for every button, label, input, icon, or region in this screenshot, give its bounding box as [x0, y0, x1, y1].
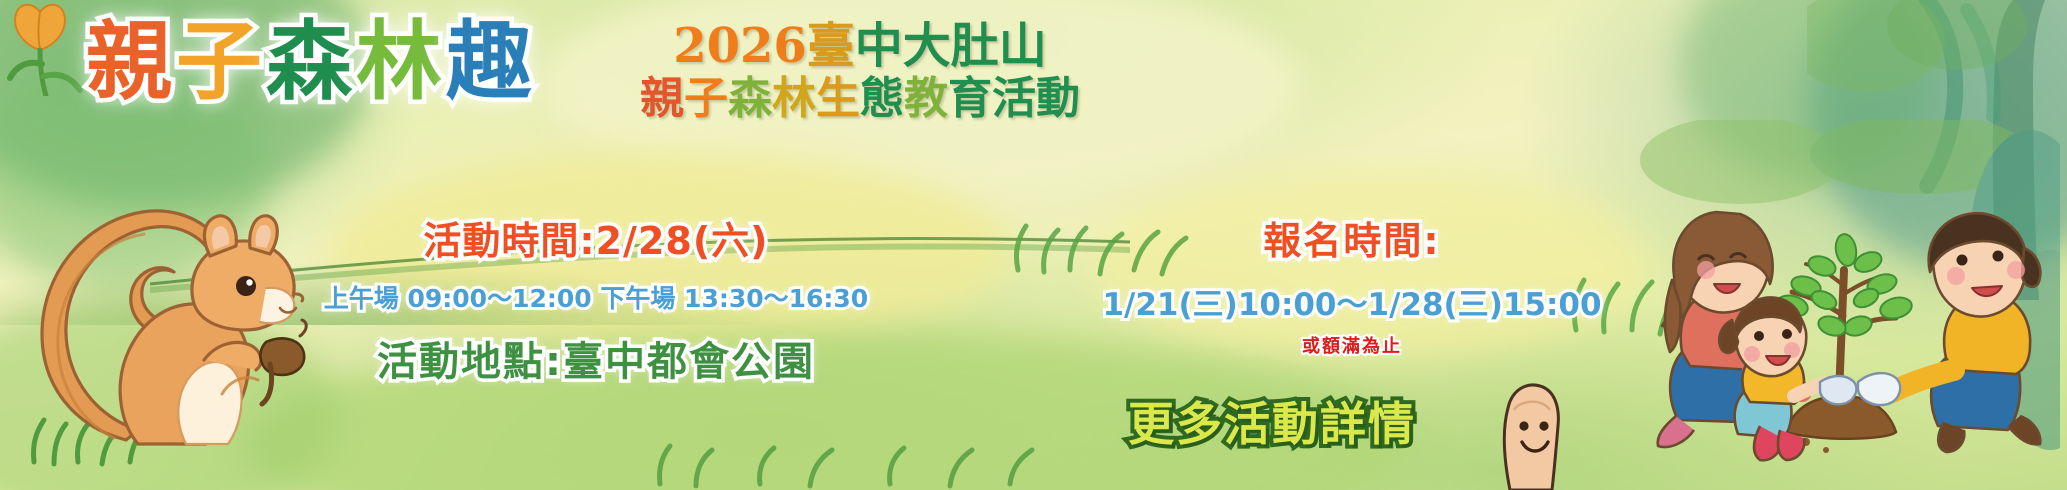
headline2-c7: 教 [904, 73, 948, 124]
headline-year: 2026 [673, 18, 807, 74]
more-details-cta[interactable]: 更多活動詳情 [1128, 388, 1416, 454]
logo-title: 親子森林趣 [86, 16, 536, 109]
event-banner: 親子森林趣 2026臺中大肚山 親子森林生態教育活動 活動時間:2/28(六) … [0, 0, 2067, 490]
squirrel-illustration [8, 148, 308, 448]
event-time-label: 活動時間:2/28(六) [316, 210, 876, 265]
registration-info-block: 報名時間: 1/21(三)10:00～1/28(三)15:00 或額滿為止 [1092, 210, 1612, 358]
logo-char-5: 趣 [446, 12, 536, 112]
grass-tuft-group-bottom [640, 430, 1060, 490]
logo-char-1: 親 [86, 12, 176, 112]
logo-char-4: 林 [356, 12, 446, 112]
registration-date-range: 1/21(三)10:00～1/28(三)15:00 [1092, 279, 1612, 324]
headline2-c6: 態 [860, 73, 904, 124]
headline2-c1: 親 [640, 73, 684, 124]
headline2-c5: 生 [816, 73, 860, 124]
headline2-c4: 林 [772, 73, 816, 124]
headline-block: 2026臺中大肚山 親子森林生態教育活動 [600, 22, 1120, 122]
headline2-c3: 森 [728, 73, 772, 124]
event-sessions: 上午場 09:00～12:00 下午場 13:30～16:30 [316, 279, 876, 315]
family-planting-tree-illustration [1620, 120, 2060, 490]
headline2-c2: 子 [684, 73, 728, 124]
headline-tai: 臺 [807, 18, 855, 74]
registration-title: 報名時間: [1092, 210, 1612, 265]
headline-line-1: 2026臺中大肚山 [600, 22, 1120, 72]
headline2-c8: 育 [948, 73, 992, 124]
event-info-block: 活動時間:2/28(六) 上午場 09:00～12:00 下午場 13:30～1… [316, 210, 876, 387]
event-place-label: 活動地點:臺中都會公園 [316, 329, 876, 387]
logo-char-3: 森 [266, 12, 356, 112]
headline-place: 中大肚山 [855, 18, 1047, 74]
pointing-finger-illustration[interactable] [1480, 382, 1585, 490]
headline-line-2: 親子森林生態教育活動 [600, 76, 1120, 122]
headline2-c9: 活動 [992, 73, 1080, 124]
registration-note: 或額滿為止 [1092, 332, 1612, 358]
logo-char-2: 子 [176, 12, 266, 112]
